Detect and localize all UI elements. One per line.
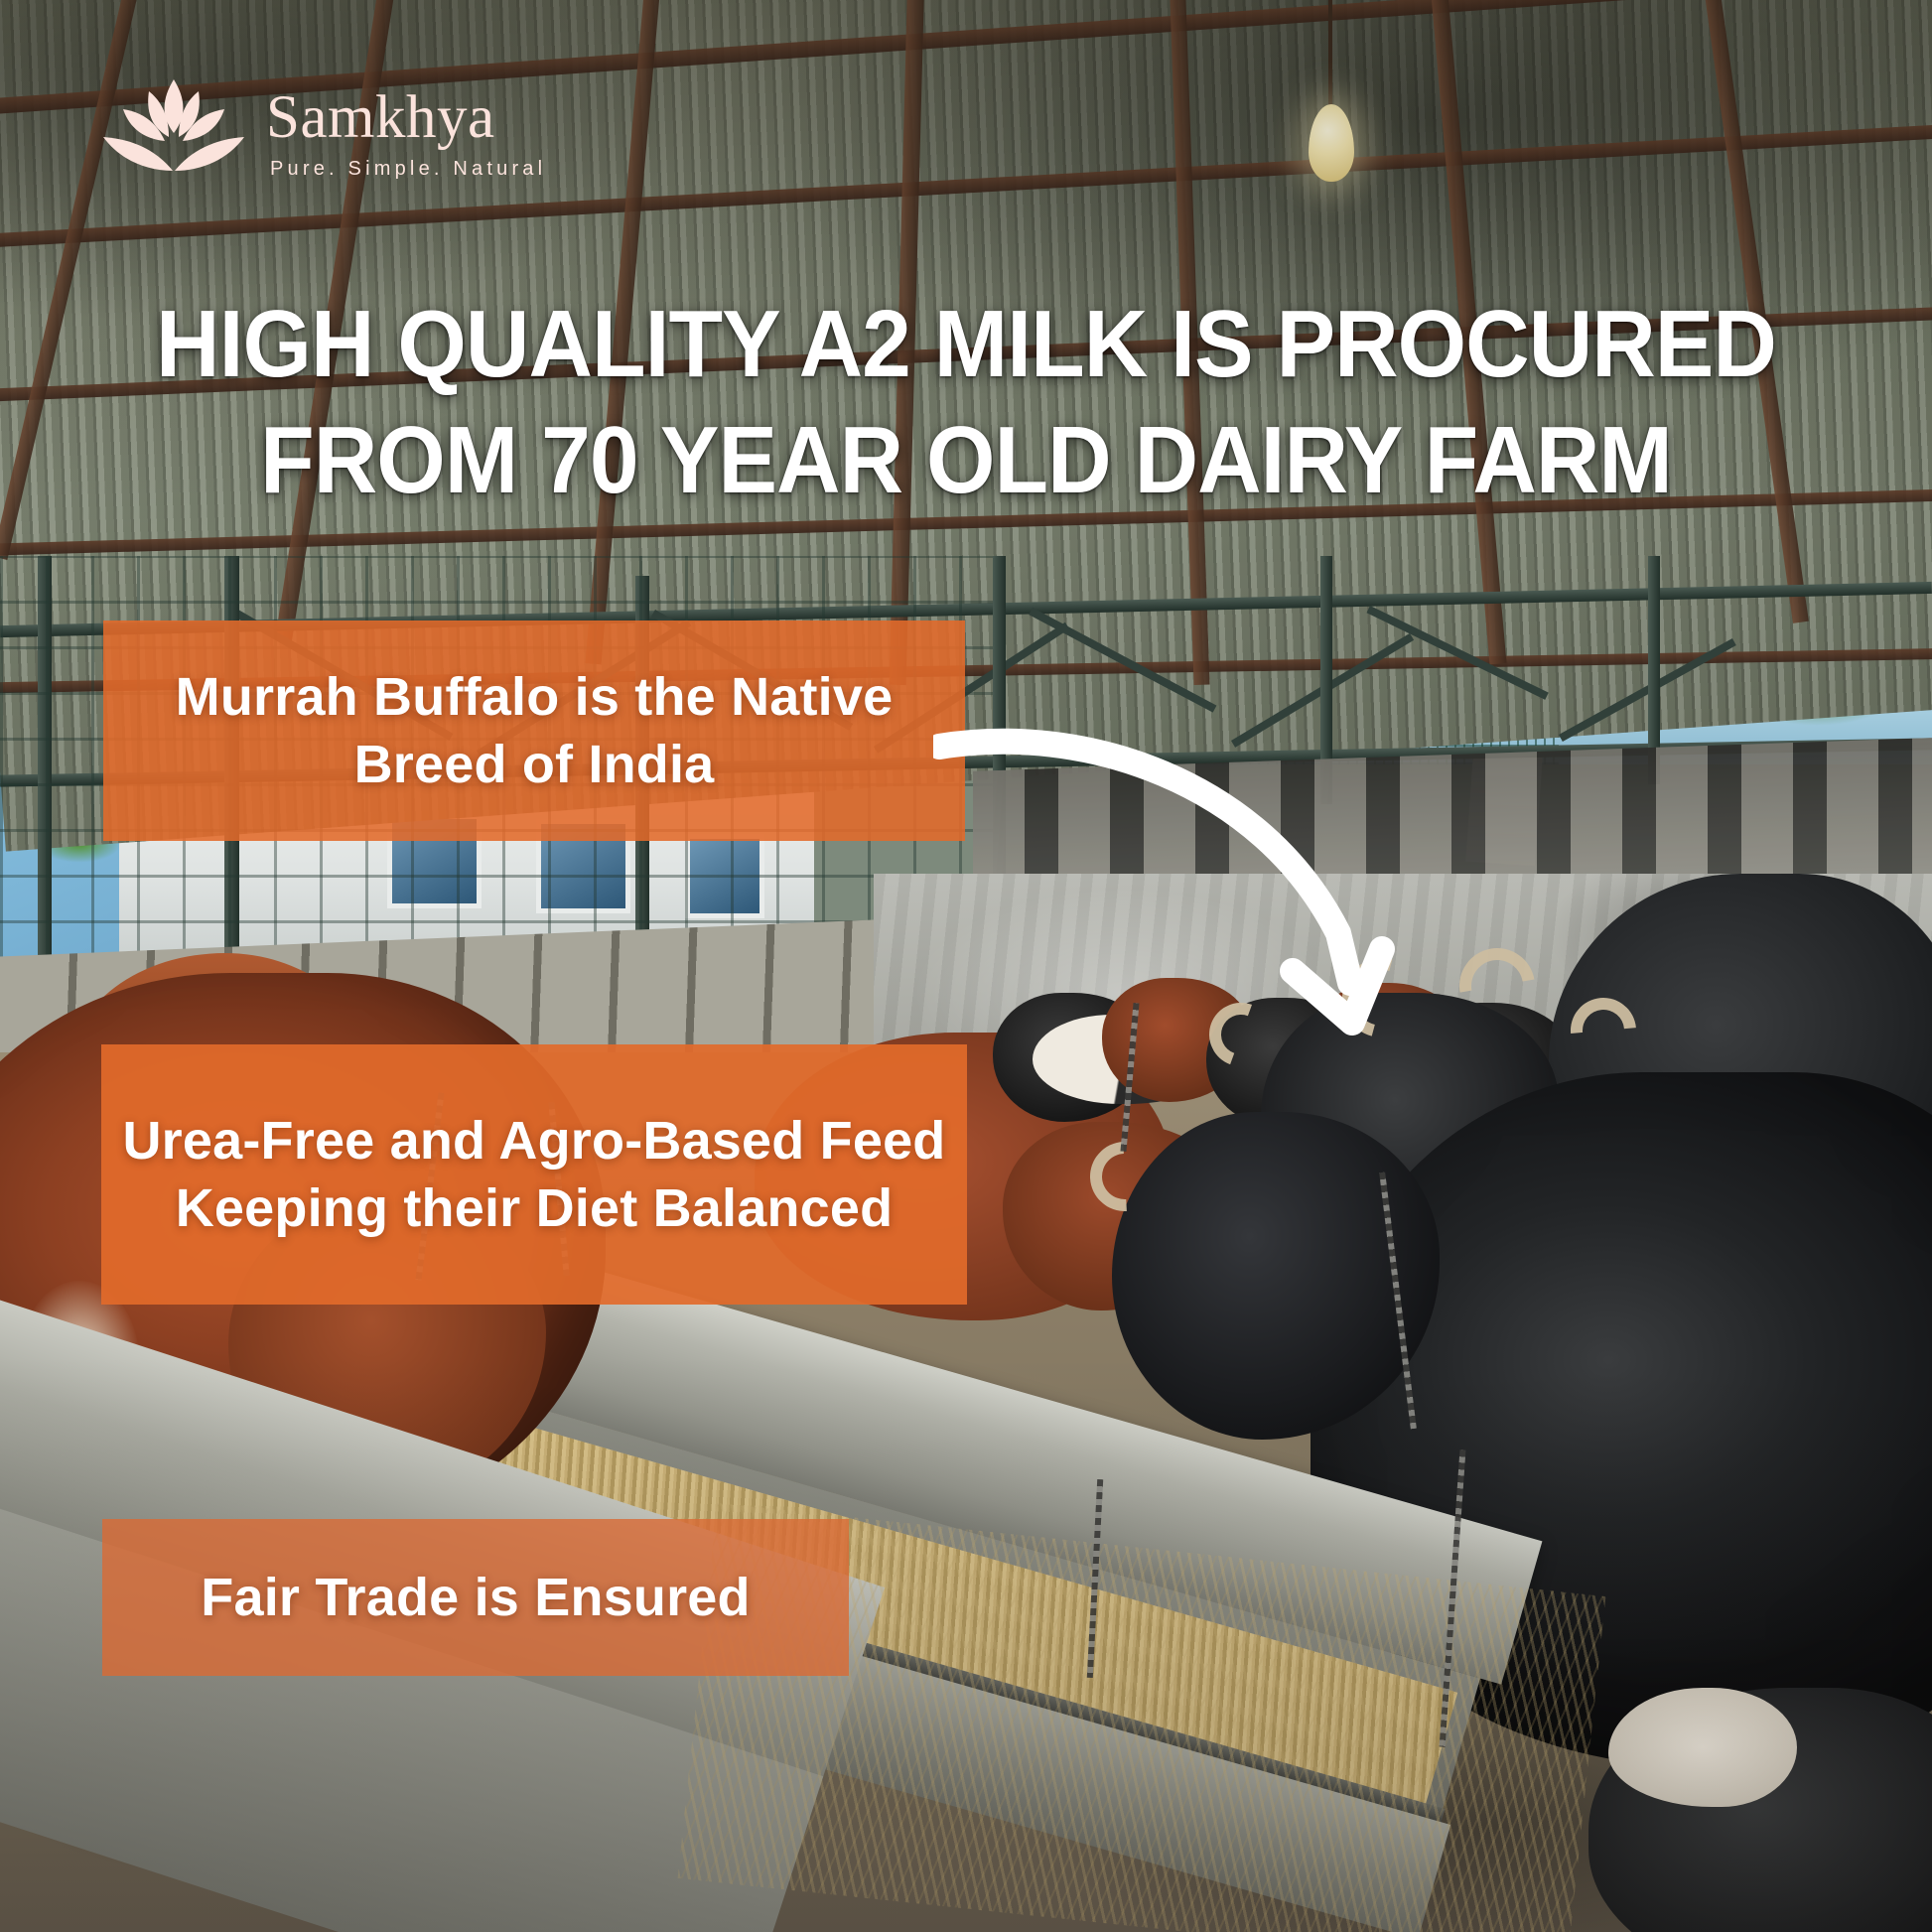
- curved-arrow-down-icon: [933, 685, 1489, 1112]
- headline-line-2: FROM 70 YEAR OLD DAIRY FARM: [68, 402, 1864, 518]
- brand-name: Samkhya: [266, 87, 546, 148]
- brand-tagline: Pure. Simple. Natural: [270, 158, 546, 181]
- brand-text: Samkhya Pure. Simple. Natural: [266, 71, 546, 181]
- callout-fair-trade: Fair Trade is Ensured: [102, 1519, 849, 1676]
- bulb-wire: [1328, 0, 1332, 109]
- headline-line-1: HIGH QUALITY A2 MILK IS PROCURED: [68, 286, 1864, 402]
- callout-urea-free-feed: Urea-Free and Agro-Based Feed Keeping th…: [101, 1044, 967, 1305]
- page-title: HIGH QUALITY A2 MILK IS PROCURED FROM 70…: [68, 286, 1864, 518]
- promotional-graphic: Samkhya Pure. Simple. Natural HIGH QUALI…: [0, 0, 1932, 1932]
- cow-marking: [1608, 1688, 1797, 1807]
- callout-native-breed: Murrah Buffalo is the Native Breed of In…: [103, 621, 965, 841]
- brand-logo: Samkhya Pure. Simple. Natural: [99, 71, 546, 181]
- lotus-icon: [99, 71, 248, 181]
